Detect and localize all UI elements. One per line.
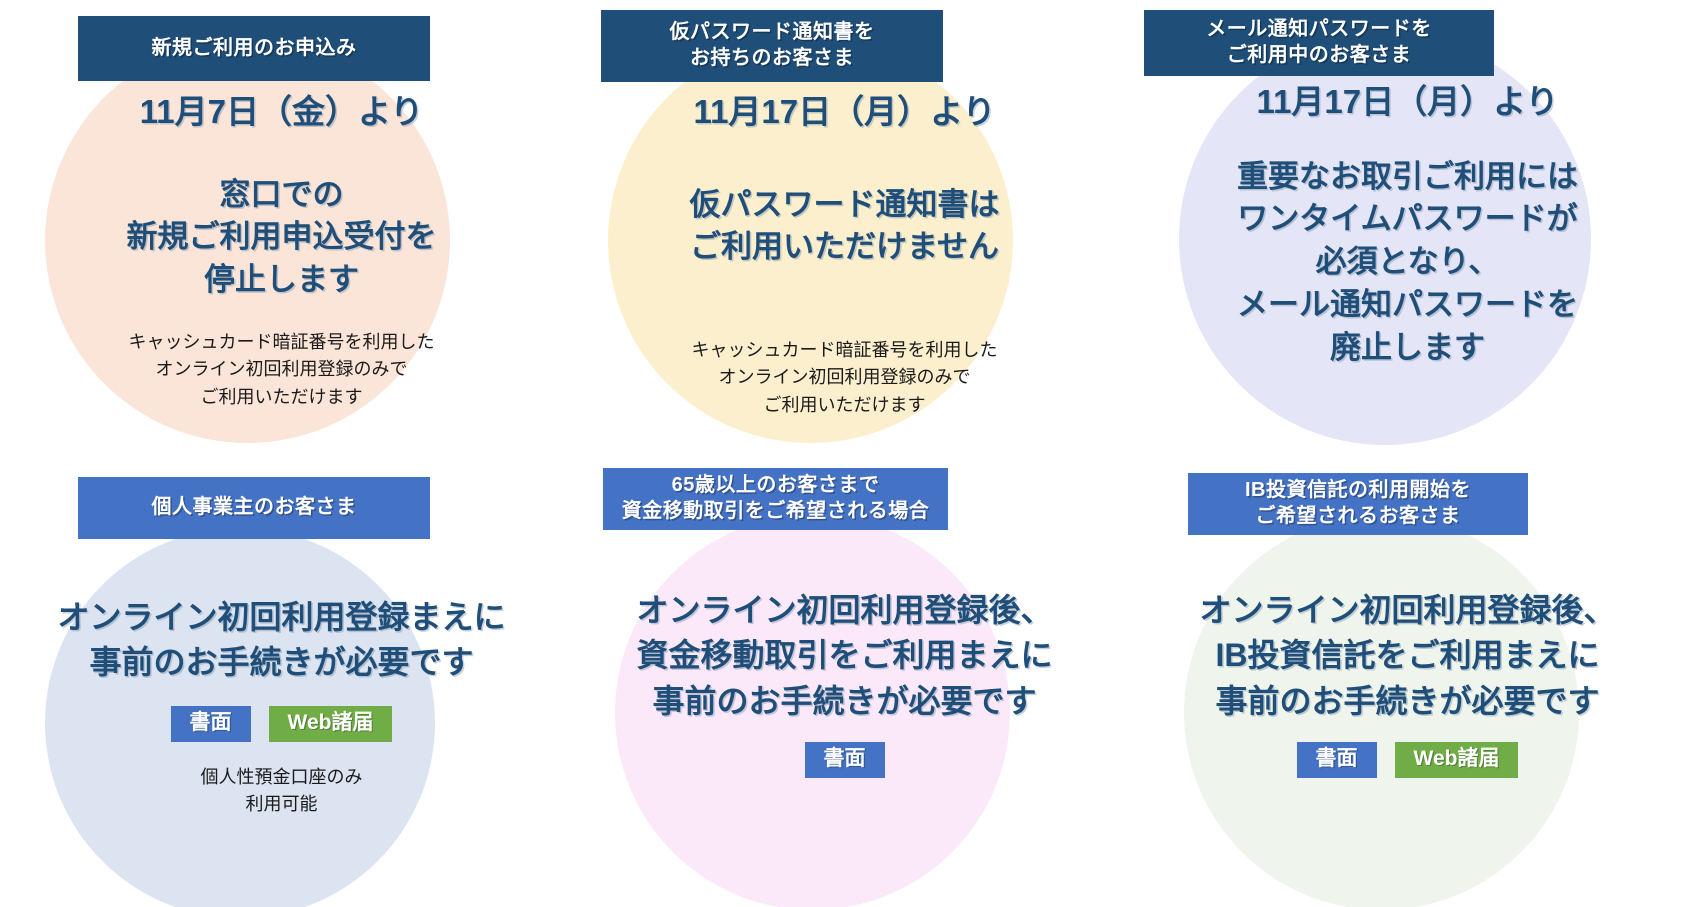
card-date-line: 11月17日（月）より	[563, 92, 1126, 132]
badge-group: 書面 Web諸届	[0, 706, 563, 742]
card-body: 11月17日（月）より 重要なお取引ご利用には ワンタイムパスワードが 必須とな…	[1126, 82, 1689, 369]
card-temporary-password: 仮パスワード通知書を お持ちのお客さま 11月17日（月）より 仮パスワード通知…	[563, 0, 1126, 453]
note-line: 利用可能	[0, 791, 563, 818]
card-mail-notice-password: メール通知パスワードを ご利用中のお客さま 11月17日（月）より 重要なお取引…	[1126, 0, 1689, 453]
headline-line: 廃止します	[1126, 327, 1689, 370]
headline-line: オンライン初回利用登録まえに	[0, 595, 563, 640]
card-body: オンライン初回利用登録後、 IB投資信託をご利用まえに 事前のお手続きが必要です…	[1126, 588, 1689, 778]
headline-line: 停止します	[0, 259, 563, 302]
headline-line: 新規ご利用申込受付を	[0, 216, 563, 259]
headline-line: IB投資信託をご利用まえに	[1126, 633, 1689, 678]
card-header-line: IB投資信託の利用開始を	[1245, 478, 1471, 504]
card-headline: 重要なお取引ご利用には ワンタイムパスワードが 必須となり、 メール通知パスワー…	[1126, 156, 1689, 370]
card-new-application: 新規ご利用のお申込み 11月7日（金）より 窓口での 新規ご利用申込受付を 停止…	[0, 0, 563, 453]
card-date-line: 11月17日（月）より	[1126, 82, 1689, 122]
card-body: 11月17日（月）より 仮パスワード通知書は ご利用いただけません キャッシュカ…	[563, 92, 1126, 419]
note-line: オンライン初回利用登録のみで	[563, 364, 1126, 391]
card-header-banner: 仮パスワード通知書を お持ちのお客さま	[601, 10, 943, 82]
badge-document[interactable]: 書面	[1297, 742, 1377, 778]
card-headline: 窓口での 新規ご利用申込受付を 停止します	[0, 174, 563, 302]
headline-line: 必須となり、	[1126, 241, 1689, 284]
card-body: オンライン初回利用登録後、 資金移動取引をご利用まえに 事前のお手続きが必要です…	[563, 588, 1126, 778]
card-header-line: 資金移動取引をご希望される場合	[622, 499, 930, 525]
card-sole-proprietor: 個人事業主のお客さま オンライン初回利用登録まえに 事前のお手続きが必要です 書…	[0, 453, 563, 906]
card-note: キャッシュカード暗証番号を利用した オンライン初回利用登録のみで ご利用いただけ…	[0, 329, 563, 411]
note-line: キャッシュカード暗証番号を利用した	[0, 329, 563, 356]
note-line: キャッシュカード暗証番号を利用した	[563, 337, 1126, 364]
badge-document[interactable]: 書面	[171, 706, 251, 742]
badge-document[interactable]: 書面	[805, 742, 885, 778]
card-headline: オンライン初回利用登録後、 資金移動取引をご利用まえに 事前のお手続きが必要です	[563, 588, 1126, 724]
headline-line: 仮パスワード通知書は	[563, 184, 1126, 227]
badge-web-notification[interactable]: Web諸届	[269, 706, 393, 742]
note-line: 個人性預金口座のみ	[0, 764, 563, 791]
card-header-line: 新規ご利用のお申込み	[152, 36, 357, 62]
headline-line: 事前のお手続きが必要です	[1126, 679, 1689, 724]
card-header-line: ご利用中のお客さま	[1206, 43, 1432, 69]
headline-line: 資金移動取引をご利用まえに	[563, 633, 1126, 678]
announcement-board: 新規ご利用のお申込み 11月7日（金）より 窓口での 新規ご利用申込受付を 停止…	[0, 0, 1689, 907]
card-headline: 仮パスワード通知書は ご利用いただけません	[563, 184, 1126, 270]
card-over-65-fund-transfer: 65歳以上のお客さまで 資金移動取引をご希望される場合 オンライン初回利用登録後…	[563, 453, 1126, 906]
card-header-banner: 個人事業主のお客さま	[78, 477, 430, 539]
card-note: キャッシュカード暗証番号を利用した オンライン初回利用登録のみで ご利用いただけ…	[563, 337, 1126, 419]
card-headline: オンライン初回利用登録まえに 事前のお手続きが必要です	[0, 595, 563, 686]
card-ib-investment-trust: IB投資信託の利用開始を ご希望されるお客さま オンライン初回利用登録後、 IB…	[1126, 453, 1689, 906]
headline-line: メール通知パスワードを	[1126, 284, 1689, 327]
card-header-banner: 新規ご利用のお申込み	[78, 16, 430, 81]
card-note: 個人性預金口座のみ 利用可能	[0, 764, 563, 819]
card-header-banner: IB投資信託の利用開始を ご希望されるお客さま	[1188, 473, 1528, 535]
card-header-banner: メール通知パスワードを ご利用中のお客さま	[1144, 10, 1494, 76]
headline-line: オンライン初回利用登録後、	[563, 588, 1126, 633]
card-header-line: お持ちのお客さま	[670, 46, 875, 72]
headline-line: 事前のお手続きが必要です	[0, 640, 563, 685]
card-date-line: 11月7日（金）より	[0, 92, 563, 132]
card-headline: オンライン初回利用登録後、 IB投資信託をご利用まえに 事前のお手続きが必要です	[1126, 588, 1689, 724]
card-body: オンライン初回利用登録まえに 事前のお手続きが必要です 書面 Web諸届 個人性…	[0, 595, 563, 819]
badge-web-notification[interactable]: Web諸届	[1395, 742, 1519, 778]
headline-line: ご利用いただけません	[563, 226, 1126, 269]
badge-group: 書面	[563, 742, 1126, 778]
card-header-line: ご希望されるお客さま	[1245, 504, 1471, 530]
note-line: ご利用いただけます	[0, 384, 563, 411]
badge-group: 書面 Web諸届	[1126, 742, 1689, 778]
headline-line: ワンタイムパスワードが	[1126, 198, 1689, 241]
card-header-line: 個人事業主のお客さま	[152, 495, 357, 521]
card-header-line: 65歳以上のお客さまで	[622, 473, 930, 499]
headline-line: オンライン初回利用登録後、	[1126, 588, 1689, 633]
card-header-banner: 65歳以上のお客さまで 資金移動取引をご希望される場合	[603, 468, 948, 530]
headline-line: 窓口での	[0, 174, 563, 217]
note-line: オンライン初回利用登録のみで	[0, 356, 563, 383]
note-line: ご利用いただけます	[563, 392, 1126, 419]
card-header-line: メール通知パスワードを	[1206, 17, 1432, 43]
card-header-line: 仮パスワード通知書を	[670, 20, 875, 46]
headline-line: 重要なお取引ご利用には	[1126, 156, 1689, 199]
card-body: 11月7日（金）より 窓口での 新規ご利用申込受付を 停止します キャッシュカー…	[0, 92, 563, 411]
headline-line: 事前のお手続きが必要です	[563, 679, 1126, 724]
